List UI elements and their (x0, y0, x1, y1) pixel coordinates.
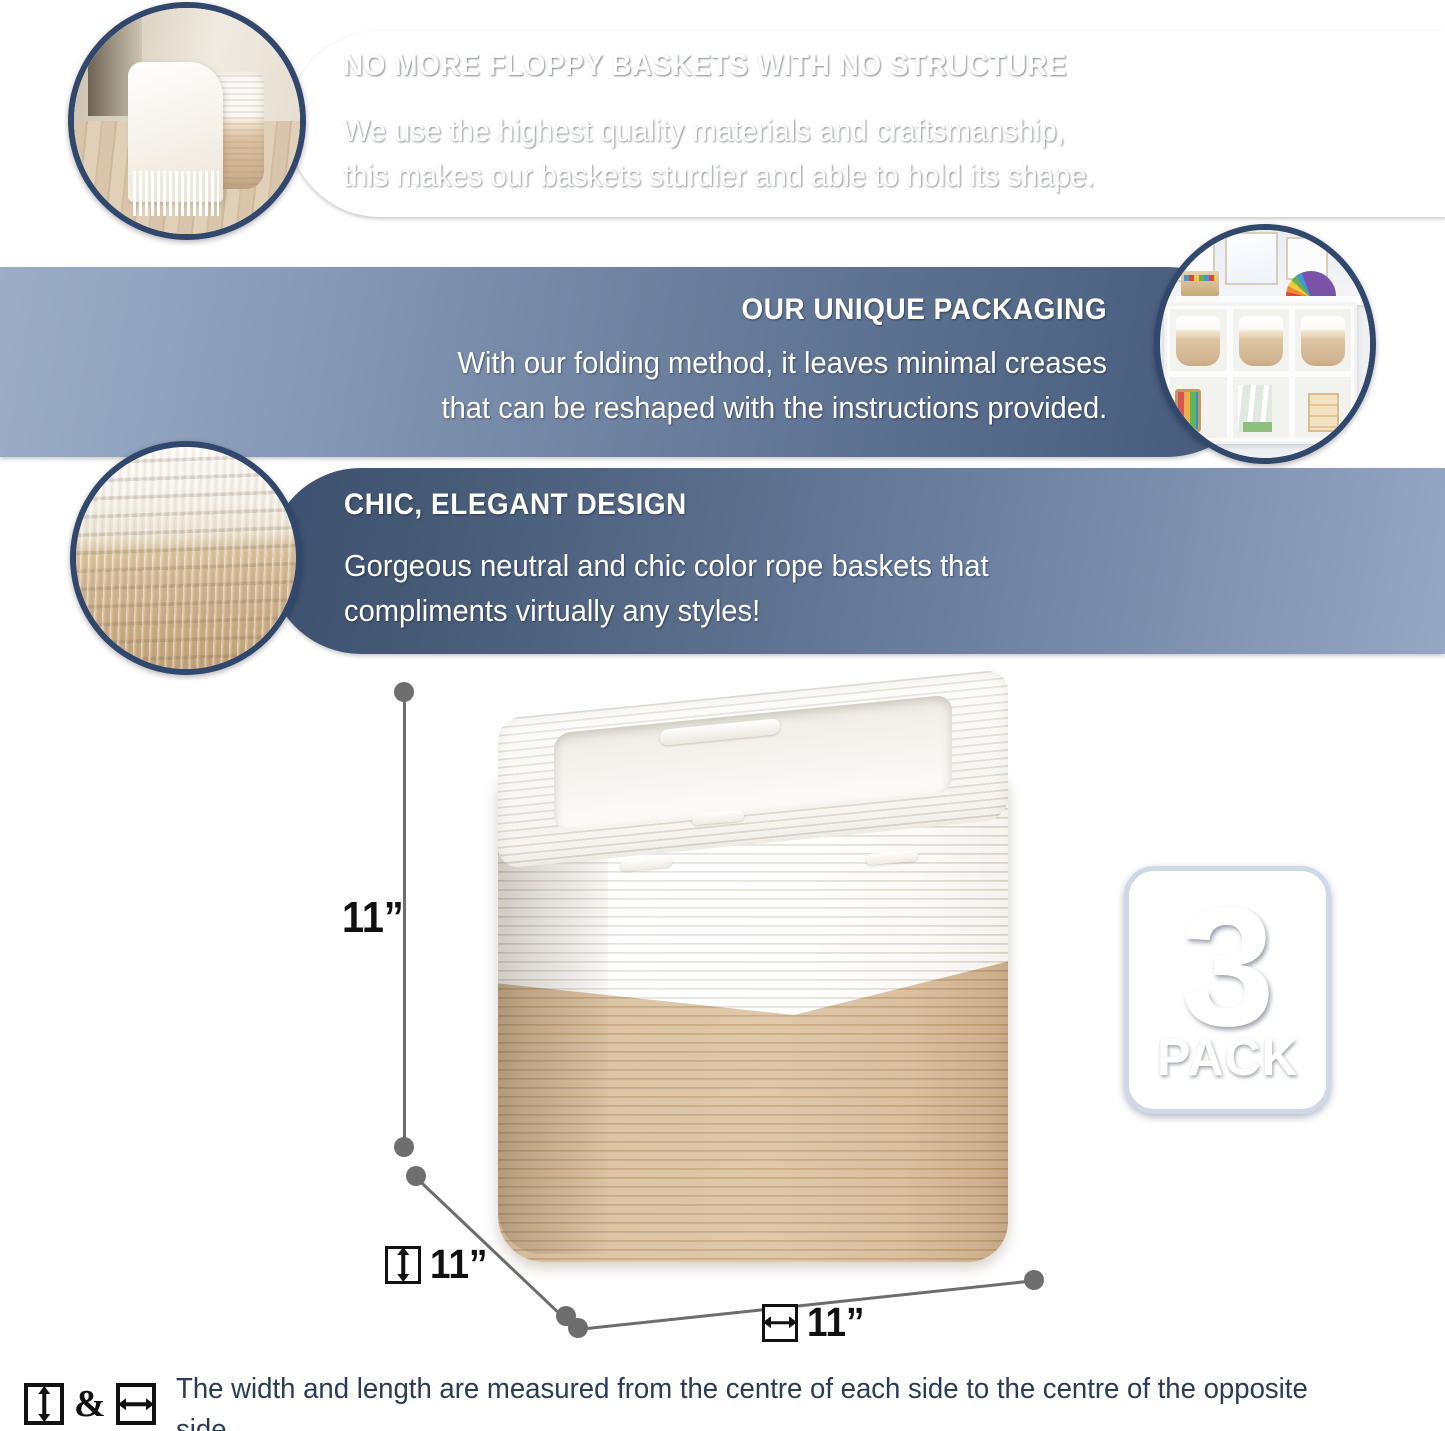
infographic-canvas: NO MORE FLOPPY BASKETS WITH NO STRUCTURE… (0, 0, 1445, 1431)
banner-body-line-2: compliments virtually any styles! (344, 589, 760, 634)
wooden-blocks (1308, 393, 1339, 432)
dimension-endpoint-dot (1024, 1270, 1044, 1290)
feature-banner-no-more-floppy-baskets: NO MORE FLOPPY BASKETS WITH NO STRUCTURE… (288, 31, 1445, 217)
depth-value: 11” (430, 1241, 487, 1288)
feature-photo-rope-texture-closeup (70, 441, 302, 675)
banner-heading: NO MORE FLOPPY BASKETS WITH NO STRUCTURE (343, 49, 1067, 83)
disclaimer-text-block: The width and length are measured from t… (168, 1369, 1424, 1431)
photo-scene-rope-weave-macro (76, 447, 296, 669)
shelf-cell (1167, 306, 1230, 374)
width-value: 11” (807, 1299, 864, 1346)
vertical-arrow-box-icon (385, 1246, 421, 1284)
banner-heading: CHIC, ELEGANT DESIGN (344, 488, 687, 522)
shelf-cell (1292, 306, 1355, 374)
height-dimension-label: 11” (342, 893, 411, 943)
pack-count-word: PACK (1157, 1032, 1299, 1084)
feature-banner-our-unique-packaging: OUR UNIQUE PACKAGING With our folding me… (0, 267, 1262, 457)
banner-heading: OUR UNIQUE PACKAGING (741, 293, 1107, 327)
shelf-cell (1292, 374, 1355, 442)
blanket-fringe (133, 171, 219, 216)
horizontal-arrow-box-icon (762, 1304, 798, 1342)
shelf-cell (1230, 306, 1293, 374)
vertical-arrow-box-icon (24, 1383, 64, 1425)
height-value: 11” (342, 893, 404, 943)
banner-body-line-2: this makes our baskets sturdier and able… (343, 154, 1095, 199)
shelf-cell (1230, 374, 1293, 442)
measurement-disclaimer: & The width and length are measured from… (24, 1369, 1424, 1431)
banner-body-line-1: Gorgeous neutral and chic color rope bas… (344, 544, 989, 589)
rope-basket (1239, 316, 1283, 365)
rope-basket (1301, 316, 1345, 365)
product-hero-basket (446, 680, 1046, 1300)
photo-scene-playroom (1160, 230, 1370, 458)
dimension-endpoint-dot (394, 1137, 414, 1157)
photo-scene-living-room (74, 8, 300, 234)
dimension-endpoint-dot (568, 1318, 588, 1338)
disclaimer-line-1: The width and length are measured from t… (176, 1369, 1362, 1431)
depth-dimension-label: 11” (385, 1241, 494, 1288)
feature-photo-basket-with-blanket (68, 2, 306, 240)
ampersand-separator: & (74, 1385, 106, 1423)
dimension-endpoint-dot (406, 1166, 426, 1186)
books (1238, 385, 1272, 432)
cube-shelf-unit (1164, 303, 1357, 444)
pack-count-badge: 3 PACK (1124, 866, 1331, 1114)
wooden-toy-abacus (1181, 271, 1219, 296)
dimension-endpoint-dot (394, 682, 414, 702)
wall-art-center-lets-play (1225, 232, 1278, 284)
rope-basket (1176, 316, 1220, 365)
feature-photo-playroom-shelf (1154, 224, 1376, 464)
banner-body-line-2: that can be reshaped with the instructio… (441, 386, 1107, 431)
banner-body-line-1: With our folding method, it leaves minim… (458, 341, 1107, 386)
toy-abacus (1175, 389, 1201, 432)
feature-banner-chic-elegant-design: CHIC, ELEGANT DESIGN Gorgeous neutral an… (268, 468, 1445, 654)
banner-body-line-1: We use the highest quality materials and… (343, 109, 1065, 154)
shelf-cell (1167, 374, 1230, 442)
pack-count-number: 3 (1180, 896, 1275, 1039)
width-dimension-label: 11” (762, 1299, 871, 1346)
horizontal-arrow-box-icon (116, 1383, 156, 1425)
measurement-icon-group: & (24, 1383, 156, 1425)
